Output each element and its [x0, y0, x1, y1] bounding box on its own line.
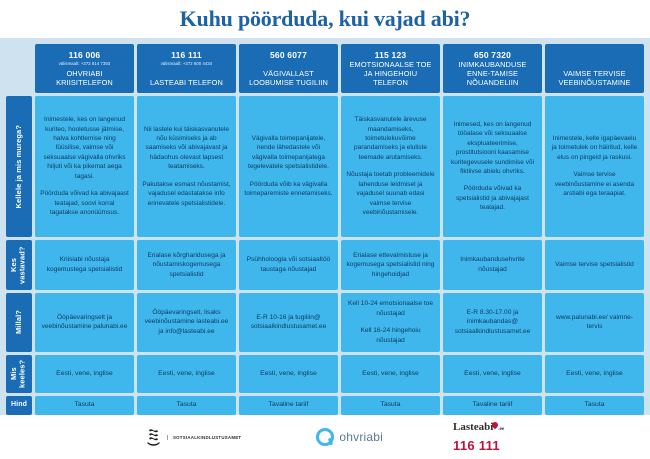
row-label-text: Mis keeles?: [10, 355, 27, 393]
table-header-row: 116 006 välismaalt: +372 614 7393 OHVRIA…: [6, 44, 644, 93]
row-label-who: Kes vastavad?: [6, 240, 32, 290]
language-text: Eesti, vene, inglise: [158, 369, 215, 379]
ohvriabi-label: ohvriabi: [339, 430, 383, 444]
who-cell: Vaimse tervise spetsialistid: [545, 240, 644, 290]
language-cell: Eesti, vene, inglise: [35, 355, 134, 393]
language-cell: Eesti, vene, inglise: [545, 355, 644, 393]
row-label-text: Hind: [11, 401, 27, 409]
column-header[interactable]: 116 111 välismaalt: +372 600 4434 LASTEA…: [137, 44, 236, 93]
who-cell: Inimkaubandusehvrite nõustajad: [443, 240, 542, 290]
when-cell: E-R 8.30-17.00 ja inimkaubandas@ sotsiaa…: [443, 293, 542, 352]
when-text: E-R 8.30-17.00 ja inimkaubandas@ sotsiaa…: [448, 308, 537, 337]
row-label-language: Mis keeles?: [6, 355, 32, 393]
row-label-description: Kellele ja mis murega?: [6, 96, 32, 237]
who-cell: Erialase kõrgharidusega ja nõustamiskoge…: [137, 240, 236, 290]
description-paragraph: Vaimse tervise veebinõustamine ei asenda…: [550, 170, 639, 198]
lasteabi-label: Lasteabi: [453, 421, 493, 433]
who-cell: Kriisiabi nõustaja kogemustega spetsiali…: [35, 240, 134, 290]
table-row-who: Kes vastavad? Kriisiabi nõustaja kogemus…: [6, 240, 644, 290]
cost-cell: Tavaline tariif: [443, 396, 542, 416]
when-text: Ööpäevaringselt, lisaks veebinõustamine …: [142, 308, 231, 337]
column-phone-number: 560 6077: [270, 50, 307, 60]
cost-text: Tasuta: [74, 400, 94, 410]
language-cell: Eesti, vene, inglise: [341, 355, 440, 393]
column-service-name: VÄGIVALLAST LOOBUMISE TUGILIIN: [244, 70, 333, 88]
column-phone-number: 116 111: [171, 50, 202, 60]
cost-cell: Tasuta: [137, 396, 236, 416]
row-label-text: Kes vastavad?: [10, 240, 27, 290]
description-paragraph: Pakutakse esmast nõustamist, vajadusel e…: [142, 180, 231, 208]
language-text: Eesti, vene, inglise: [260, 369, 317, 379]
language-text: Eesti, vene, inglise: [362, 369, 419, 379]
services-table: 116 006 välismaalt: +372 614 7393 OHVRIA…: [6, 44, 644, 415]
column-phone-subtitle: välismaalt: +372 614 7393: [59, 61, 111, 66]
column-phone-number: 650 7320: [474, 50, 511, 60]
who-text: Psühholoogia või sotsiaaltöö taustaga nõ…: [244, 255, 333, 274]
who-text: Erialase ettevalmistuse ja kogemusega sp…: [346, 251, 435, 280]
header-corner-spacer: [6, 44, 32, 93]
description-paragraph: Inimesed, kes on langenud tööalase või s…: [448, 120, 537, 177]
description-paragraph: Täiskasvanutele ärevuse maandamiseks, to…: [346, 115, 435, 162]
when-text: Kell 10-24 emotsionaalse toe nõustajad: [346, 299, 435, 318]
description-cell: Inimestele, kelle igapäevaelu ja toimetu…: [545, 96, 644, 237]
who-text: Erialase kõrgharidusega ja nõustamiskoge…: [142, 251, 231, 280]
when-cell: Ööpäevaringselt ja veebinõustamine palun…: [35, 293, 134, 352]
language-text: Eesti, vene, inglise: [56, 369, 113, 379]
column-header[interactable]: 560 6077 VÄGIVALLAST LOOBUMISE TUGILIIN: [239, 44, 338, 93]
row-label-text: Millal?: [15, 310, 24, 334]
column-header[interactable]: VAIMSE TERVISE VEEBINÕUSTAMINE: [545, 44, 644, 93]
cost-text: Tavaline tariif: [473, 400, 513, 410]
description-paragraph: Nõustaja toetab probleemidele lahenduse …: [346, 170, 435, 217]
description-paragraph: Pöörduda võivad ka spetsialistid ja abiv…: [448, 184, 537, 212]
column-service-name: INIMKAUBANDUSE ENNE-TAMISE NÕUANDELIIN: [448, 61, 537, 88]
ohvriabi-logo: ohvriabi: [316, 428, 383, 446]
row-label-when: Millal?: [6, 293, 32, 352]
description-cell: Nii lastele kui täiskasvanutele nõu küsi…: [137, 96, 236, 237]
column-service-name: EMOTSIONAALSE TOE JA HINGEHOIU TELEFON: [346, 61, 435, 88]
page-header: Kuhu pöörduda, kui vajad abi?: [0, 0, 650, 38]
lasteabi-logo: Lasteabi.ee 116 111: [453, 422, 504, 452]
lasteabi-phone-number: 116 111: [453, 439, 500, 452]
when-cell: E-R 10-16 ja tugiliin@ sotsiaalkindlustu…: [239, 293, 338, 352]
description-paragraph: Vägivalla toimepanijatele, nende lähedas…: [244, 134, 333, 172]
table-row-language: Mis keeles? Eesti, vene, inglise Eesti, …: [6, 355, 644, 393]
description-cell: Inimestele, kes on langenud kuriteo, hoo…: [35, 96, 134, 237]
cost-text: Tasuta: [380, 400, 400, 410]
description-cell: Vägivalla toimepanijatele, nende lähedas…: [239, 96, 338, 237]
language-text: Eesti, vene, inglise: [566, 369, 623, 379]
when-text: E-R 10-16 ja tugiliin@ sotsiaalkindlustu…: [244, 313, 333, 332]
column-header[interactable]: 116 006 välismaalt: +372 614 7393 OHVRIA…: [35, 44, 134, 93]
sotsiaalkindlustusamet-logo: SOTSIAALKINDLUSTUSAMET: [146, 427, 246, 447]
column-service-name: VAIMSE TERVISE VEEBINÕUSTAMINE: [550, 70, 639, 88]
column-phone-number: 116 006: [69, 50, 101, 60]
lasteabi-domain: .ee: [498, 427, 504, 432]
table-row-when: Millal? Ööpäevaringselt ja veebinõustami…: [6, 293, 644, 352]
when-text: Ööpäevaringselt ja veebinõustamine palun…: [40, 313, 129, 332]
column-service-name: OHVRIABI KRIISITELEFON: [40, 70, 129, 88]
page-title: Kuhu pöörduda, kui vajad abi?: [180, 6, 471, 32]
when-cell: Ööpäevaringselt, lisaks veebinõustamine …: [137, 293, 236, 352]
cost-text: Tavaline tariif: [269, 400, 309, 410]
language-text: Eesti, vene, inglise: [464, 369, 521, 379]
description-paragraph: Inimestele, kelle igapäevaelu ja toimetu…: [550, 134, 639, 162]
language-cell: Eesti, vene, inglise: [443, 355, 542, 393]
description-paragraph: Pöörduda võib ka vägivalla toimeparemist…: [244, 180, 333, 199]
estonia-crest-icon: [146, 427, 162, 447]
who-text: Vaimse tervise spetsialistid: [555, 260, 634, 270]
description-cell: Täiskasvanutele ärevuse maandamiseks, to…: [341, 96, 440, 237]
column-phone-number: 115 123: [375, 50, 407, 60]
language-cell: Eesti, vene, inglise: [239, 355, 338, 393]
who-cell: Erialase ettevalmistuse ja kogemusega sp…: [341, 240, 440, 290]
cost-cell: Tasuta: [341, 396, 440, 416]
who-text: Kriisiabi nõustaja kogemustega spetsiali…: [40, 255, 129, 274]
language-cell: Eesti, vene, inglise: [137, 355, 236, 393]
description-paragraph: Nii lastele kui täiskasvanutele nõu küsi…: [142, 125, 231, 172]
description-cell: Inimesed, kes on langenud tööalase või s…: [443, 96, 542, 237]
column-header[interactable]: 650 7320 INIMKAUBANDUSE ENNE-TAMISE NÕUA…: [443, 44, 542, 93]
description-paragraph: Inimestele, kes on langenud kuriteo, hoo…: [40, 115, 129, 181]
row-label-text: Kellele ja mis murega?: [15, 125, 24, 208]
crest-label: SOTSIAALKINDLUSTUSAMET: [167, 435, 241, 440]
column-header[interactable]: 115 123 EMOTSIONAALSE TOE JA HINGEHOIU T…: [341, 44, 440, 93]
row-label-cost: Hind: [6, 396, 32, 416]
cost-cell: Tasuta: [545, 396, 644, 416]
who-cell: Psühholoogia või sotsiaaltöö taustaga nõ…: [239, 240, 338, 290]
column-phone-subtitle: välismaalt: +372 600 4434: [161, 61, 213, 66]
when-text: Kell 16-24 hingehoiu nõustajad: [346, 326, 435, 345]
table-row-description: Kellele ja mis murega? Inimestele, kes o…: [6, 96, 644, 237]
comparison-board: 116 006 välismaalt: +372 614 7393 OHVRIA…: [0, 38, 650, 415]
ohvriabi-circle-icon: [316, 428, 334, 446]
cost-text: Tasuta: [176, 400, 196, 410]
column-service-name: LASTEABI TELEFON: [150, 79, 223, 88]
when-cell: www.palunabi.ee/ vaimne-tervis: [545, 293, 644, 352]
who-text: Inimkaubandusehvrite nõustajad: [448, 255, 537, 274]
when-cell: Kell 10-24 emotsionaalse toe nõustajad K…: [341, 293, 440, 352]
cost-cell: Tasuta: [35, 396, 134, 416]
lasteabi-wordmark: Lasteabi.ee: [453, 422, 504, 433]
cost-cell: Tavaline tariif: [239, 396, 338, 416]
footer-logos: SOTSIAALKINDLUSTUSAMET ohvriabi Lasteabi…: [0, 415, 650, 459]
cost-text: Tasuta: [584, 400, 604, 410]
when-text: www.palunabi.ee/ vaimne-tervis: [550, 313, 639, 332]
table-row-cost: Hind Tasuta Tasuta Tavaline tariif Tasut…: [6, 396, 644, 416]
description-paragraph: Pöörduda võivad ka abivajaast teatajad, …: [40, 189, 129, 217]
